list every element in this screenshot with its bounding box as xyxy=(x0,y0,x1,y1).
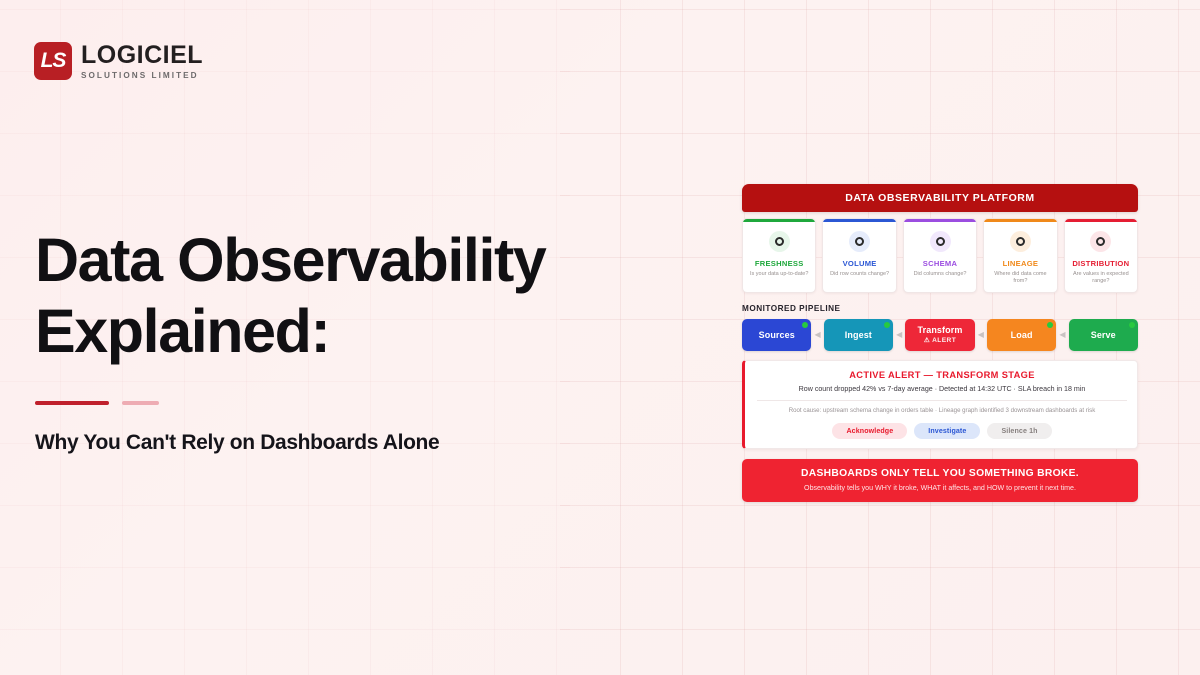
pillar-name: SCHEMA xyxy=(904,259,976,268)
page-title-line-1: Data Observability xyxy=(35,225,675,296)
page-title: Data Observability Explained: xyxy=(35,225,675,367)
pipeline-stage-alert-badge: ⚠ ALERT xyxy=(924,336,956,344)
page-title-line-2: Explained: xyxy=(35,296,675,367)
pillar-accent-bar xyxy=(1065,219,1137,222)
logo-text: LOGICIEL SOLUTIONS LIMITED xyxy=(81,43,203,80)
pillar-accent-bar xyxy=(904,219,976,222)
pillar-name: DISTRIBUTION xyxy=(1065,259,1137,268)
alert-detail: Row count dropped 42% vs 7-day average ·… xyxy=(757,385,1127,393)
panel-header: DATA OBSERVABILITY PLATFORM xyxy=(742,184,1138,212)
pillar-card[interactable]: DISTRIBUTIONAre values in expected range… xyxy=(1064,218,1138,293)
pillar-circle-icon xyxy=(769,231,790,252)
logo-brand-name: LOGICIEL xyxy=(81,43,203,68)
pillar-circle-icon xyxy=(930,231,951,252)
alert-action-ack-button[interactable]: Acknowledge xyxy=(832,423,907,439)
observability-panel: DATA OBSERVABILITY PLATFORM FRESHNESSIs … xyxy=(742,184,1138,502)
pillar-name: FRESHNESS xyxy=(743,259,815,268)
pillar-name: VOLUME xyxy=(823,259,895,268)
alert-action-list: AcknowledgeInvestigateSilence 1h xyxy=(757,423,1127,439)
pillar-circle-icon xyxy=(1090,231,1111,252)
pillar-card[interactable]: SCHEMADid columns change? xyxy=(903,218,977,293)
pipeline-stage[interactable]: Load xyxy=(987,319,1056,351)
pillar-card[interactable]: VOLUMEDid row counts change? xyxy=(822,218,896,293)
pipeline-stage-name: Transform xyxy=(918,325,963,335)
active-alert-card: ACTIVE ALERT — TRANSFORM STAGE Row count… xyxy=(742,360,1138,449)
pillar-icon-wrap xyxy=(743,231,815,252)
pipeline-stage-list: Sources◀Ingest◀Transform⚠ ALERT◀Load◀Ser… xyxy=(742,319,1138,351)
pipeline-stage[interactable]: Sources xyxy=(742,319,811,351)
pipeline-status-dot xyxy=(802,322,808,328)
pillar-card[interactable]: FRESHNESSIs your data up-to-date? xyxy=(742,218,816,293)
accent-divider xyxy=(35,401,675,405)
pipeline-status-dot xyxy=(1129,322,1135,328)
alert-action-inv-button[interactable]: Investigate xyxy=(914,423,980,439)
logo-mark-icon: LS xyxy=(34,42,72,80)
warning-icon: ⚠ xyxy=(924,337,930,344)
pipeline-section-label: MONITORED PIPELINE xyxy=(742,304,1138,313)
banner-subtitle: Observability tells you WHY it broke, WH… xyxy=(752,484,1128,492)
pipeline-stage[interactable]: Ingest xyxy=(824,319,893,351)
logo-tagline: SOLUTIONS LIMITED xyxy=(81,71,203,80)
pillar-description: Is your data up-to-date? xyxy=(743,271,815,278)
pillar-card-list: FRESHNESSIs your data up-to-date?VOLUMED… xyxy=(742,218,1138,293)
pipeline-stage-name: Serve xyxy=(1091,330,1116,340)
pillar-icon-wrap xyxy=(823,231,895,252)
alert-divider xyxy=(757,400,1127,401)
pipeline-arrow-icon: ◀ xyxy=(814,331,820,339)
pipeline-stage-name: Ingest xyxy=(845,330,872,340)
pipeline-status-dot xyxy=(884,322,890,328)
alert-title: ACTIVE ALERT — TRANSFORM STAGE xyxy=(757,370,1127,380)
panel-header-title: DATA OBSERVABILITY PLATFORM xyxy=(752,192,1128,204)
pipeline-stage[interactable]: Transform⚠ ALERT xyxy=(905,319,974,351)
pillar-accent-bar xyxy=(823,219,895,222)
alert-root-cause: Root cause: upstream schema change in or… xyxy=(757,407,1127,415)
pillar-icon-wrap xyxy=(1065,231,1137,252)
pillar-accent-bar xyxy=(743,219,815,222)
page-subtitle: Why You Can't Rely on Dashboards Alone xyxy=(35,431,675,455)
pipeline-arrow-icon: ◀ xyxy=(896,331,902,339)
pillar-name: LINEAGE xyxy=(984,259,1056,268)
brand-logo: LS LOGICIEL SOLUTIONS LIMITED xyxy=(34,42,203,80)
pillar-icon-wrap xyxy=(904,231,976,252)
pillar-circle-icon xyxy=(849,231,870,252)
pillar-description: Are values in expected range? xyxy=(1065,271,1137,285)
banner-title: DASHBOARDS ONLY TELL YOU SOMETHING BROKE… xyxy=(752,468,1128,479)
pillar-circle-icon xyxy=(1010,231,1031,252)
closing-banner: DASHBOARDS ONLY TELL YOU SOMETHING BROKE… xyxy=(742,459,1138,502)
accent-bar-primary xyxy=(35,401,109,405)
pipeline-arrow-icon: ◀ xyxy=(1059,331,1065,339)
headline-block: Data Observability Explained: Why You Ca… xyxy=(35,225,675,455)
pipeline-stage-name: Sources xyxy=(759,330,795,340)
pipeline-status-dot xyxy=(1047,322,1053,328)
pipeline-arrow-icon: ◀ xyxy=(978,331,984,339)
slide-root: LS LOGICIEL SOLUTIONS LIMITED Data Obser… xyxy=(0,0,1200,675)
pillar-description: Did row counts change? xyxy=(823,271,895,278)
alert-action-sil-button[interactable]: Silence 1h xyxy=(987,423,1051,439)
accent-bar-secondary xyxy=(122,401,159,405)
pillar-icon-wrap xyxy=(984,231,1056,252)
pillar-description: Where did data come from? xyxy=(984,271,1056,285)
pillar-card[interactable]: LINEAGEWhere did data come from? xyxy=(983,218,1057,293)
pillar-description: Did columns change? xyxy=(904,271,976,278)
pipeline-stage[interactable]: Serve xyxy=(1069,319,1138,351)
pipeline-stage-name: Load xyxy=(1011,330,1033,340)
pillar-accent-bar xyxy=(984,219,1056,222)
